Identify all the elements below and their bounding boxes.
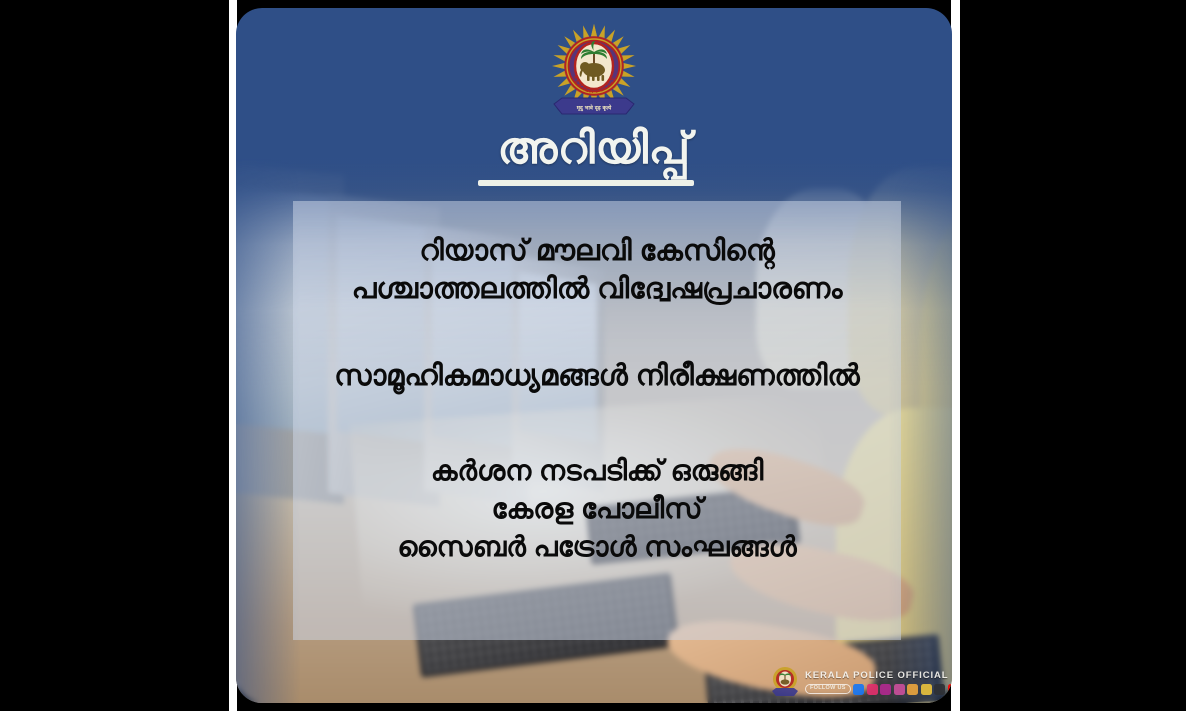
message-panel: റിയാസ് മൗലവി കേസിന്റെ പശ്ചാത്തലത്തിൽ വിദ…: [293, 201, 901, 640]
watermark-text-group: KERALA POLICE OFFICIAL FOLLOW US: [805, 670, 952, 695]
follow-us-pill[interactable]: FOLLOW US: [805, 684, 851, 695]
message-line: കേരള പോലീസ്: [293, 490, 901, 528]
watermark-title: KERALA POLICE OFFICIAL: [805, 670, 952, 681]
message-line: സാമൂഹികമാധ്യമങ്ങൾ നിരീക്ഷണത്തിൽ: [293, 358, 901, 396]
poster-card: KERALA POLICE मृदु भावे दृढ़ कृत्ये അറിയ…: [236, 8, 952, 703]
message-line: റിയാസ് മൗലവി കേസിന്റെ: [293, 233, 901, 271]
message-line: സൈബർ പട്രോൾ സംഘങ്ങൾ: [293, 528, 901, 566]
message-line: കർശന നടപടിക്ക് ഒരുങ്ങി: [293, 452, 901, 490]
message-line: പശ്ചാത്തലത്തിൽ വിദ്വേഷപ്രചാരണം: [293, 271, 901, 309]
message-block-3: കർശന നടപടിക്ക് ഒരുങ്ങി കേരള പോലീസ് സൈബർ …: [293, 452, 901, 566]
right-gutter: [951, 0, 960, 711]
emblem-motto: मृदु भावे दृढ़ कृत्ये: [576, 105, 612, 112]
watermark-badge: KERALA POLICE OFFICIAL FOLLOW US: [770, 663, 936, 701]
instagram-icon[interactable]: [867, 684, 878, 695]
youtube-icon[interactable]: [948, 684, 952, 695]
page-title: അറിയിപ്പ്: [236, 126, 952, 172]
koo-icon[interactable]: [921, 684, 932, 695]
snapchat-icon[interactable]: [907, 684, 918, 695]
emblem-ribbon: मृदु भावे दृढ़ कृत्ये: [554, 98, 634, 114]
message-block-2: സാമൂഹികമാധ്യമങ്ങൾ നിരീക്ഷണത്തിൽ: [293, 358, 901, 396]
page-title-underline: [478, 180, 694, 186]
telegram-icon[interactable]: [934, 684, 945, 695]
facebook-icon[interactable]: [853, 684, 864, 695]
threads-icon[interactable]: [880, 684, 891, 695]
screenshot-canvas: KERALA POLICE मृदु भावे दृढ़ कृत्ये അറിയ…: [0, 0, 1186, 711]
kerala-police-emblem: KERALA POLICE मृदु भावे दृढ़ कृत्ये: [546, 22, 642, 126]
watermark-crest-icon: [770, 666, 800, 698]
social-icon-row: FOLLOW US: [805, 684, 952, 695]
whatsapp-icon[interactable]: [894, 684, 905, 695]
message-block-1: റിയാസ് മൗലവി കേസിന്റെ പശ്ചാത്തലത്തിൽ വിദ…: [293, 233, 901, 308]
